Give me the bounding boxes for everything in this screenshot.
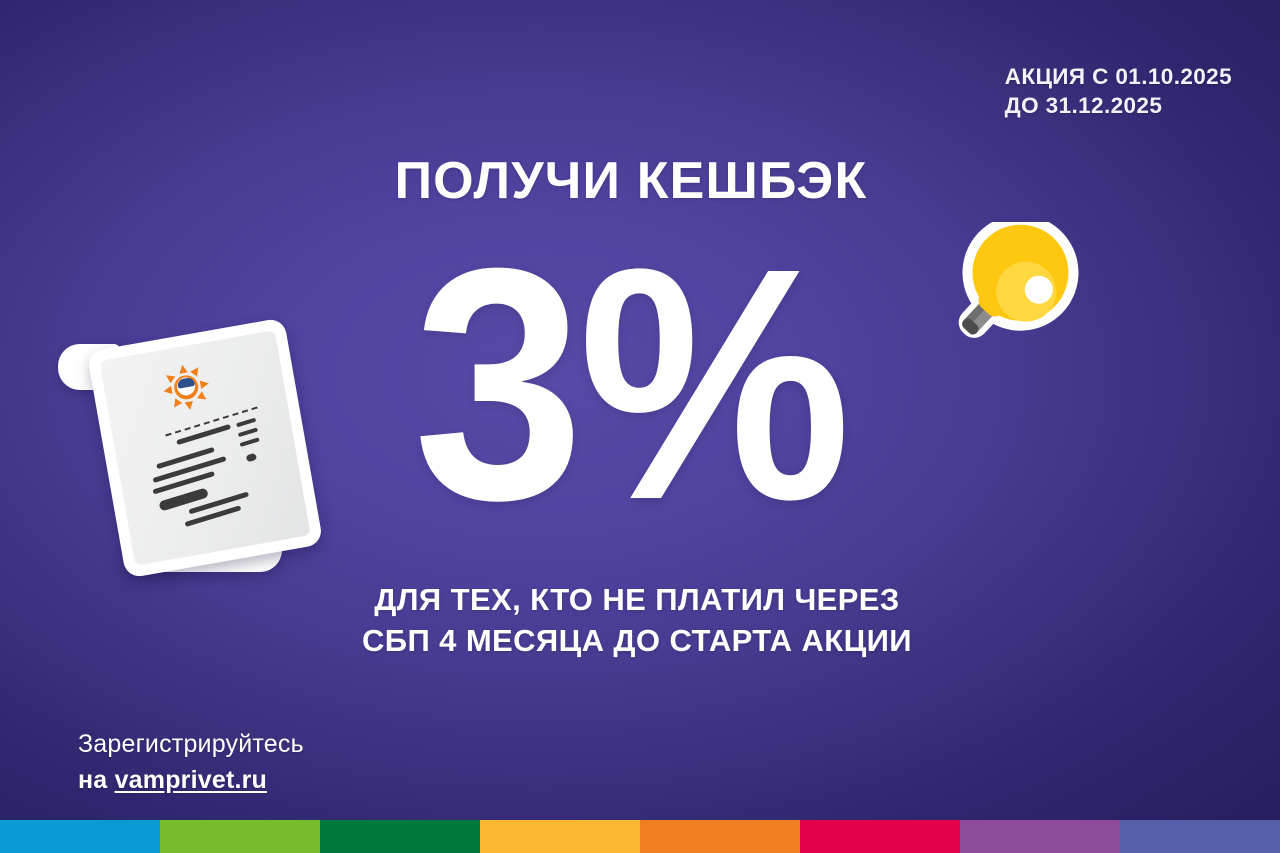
register-site-link[interactable]: vamprivet.ru [115, 766, 267, 794]
receipt-text-line [238, 427, 258, 437]
receipt-text-line [246, 453, 258, 463]
register-site-line: на vamprivet.ru [78, 763, 304, 799]
register-label: Зарегистрируйтесь [78, 727, 304, 763]
promo-banner: АКЦИЯ С 01.10.2025 ДО 31.12.2025 ПОЛУЧИ … [0, 0, 1280, 853]
register-prefix: на [78, 766, 115, 794]
sun-logo-icon [160, 361, 213, 414]
stripe-segment-blue-violet [1120, 820, 1280, 853]
light-bulb-icon [938, 222, 1106, 377]
stripe-segment-blue [0, 820, 160, 853]
register-cta: Зарегистрируйтесь на vamprivet.ru [78, 727, 304, 798]
color-stripe [0, 820, 1280, 853]
receipt-text-line [240, 437, 260, 447]
condition-line-2: СБП 4 МЕСЯЦА ДО СТАРТА АКЦИИ [0, 621, 1280, 662]
receipt-scroll-icon [88, 338, 338, 568]
stripe-segment-dark-green [320, 820, 480, 853]
condition-line-1: ДЛЯ ТЕХ, КТО НЕ ПЛАТИЛ ЧЕРЕЗ [0, 580, 1280, 621]
receipt-text-line [176, 424, 231, 445]
promo-period: АКЦИЯ С 01.10.2025 ДО 31.12.2025 [1005, 63, 1232, 120]
receipt-text-line [236, 418, 256, 428]
stripe-segment-light-green [160, 820, 320, 853]
promo-period-line-1: АКЦИЯ С 01.10.2025 [1005, 63, 1232, 92]
stripe-segment-orange [640, 820, 800, 853]
receipt-page [99, 330, 310, 566]
promo-period-line-2: ДО 31.12.2025 [1005, 92, 1232, 121]
stripe-segment-crimson [800, 820, 960, 853]
receipt-document [99, 330, 310, 566]
condition-text: ДЛЯ ТЕХ, КТО НЕ ПЛАТИЛ ЧЕРЕЗ СБП 4 МЕСЯЦ… [0, 580, 1280, 661]
stripe-segment-purple [960, 820, 1120, 853]
stripe-segment-yellow [480, 820, 640, 853]
cashback-percent-value: 3% [413, 232, 845, 536]
